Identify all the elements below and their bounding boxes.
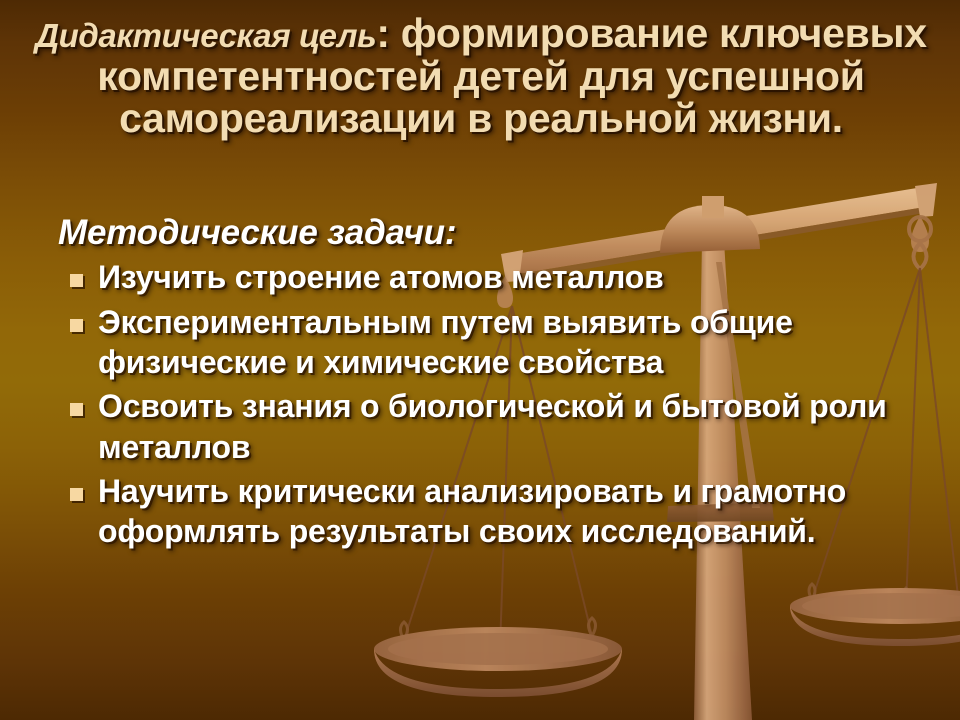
slide-title: Дидактическая цель: формирование ключевы… (28, 12, 934, 140)
bullet-square-icon (70, 488, 83, 501)
title-emphasis: Дидактическая цель (35, 17, 376, 54)
bullet-square-icon (70, 274, 83, 287)
slide-body: Методические задачи: Изучить строение ат… (52, 212, 902, 555)
list-item-text: Освоить знания о биологической и бытовой… (98, 388, 887, 464)
bullet-list: Изучить строение атомов металлов Экспери… (52, 257, 902, 551)
text-layer: Дидактическая цель: формирование ключевы… (0, 0, 960, 720)
list-item-text: Научить критически анализировать и грамо… (98, 473, 846, 549)
subheading: Методические задачи: (58, 212, 902, 253)
list-item-text: Экспериментальным путем выявить общие фи… (98, 304, 793, 380)
list-item: Экспериментальным путем выявить общие фи… (52, 302, 902, 383)
list-item: Изучить строение атомов металлов (52, 257, 902, 297)
bullet-square-icon (70, 319, 83, 332)
slide-canvas: Дидактическая цель: формирование ключевы… (0, 0, 960, 720)
title-separator: : (376, 10, 400, 56)
list-item: Освоить знания о биологической и бытовой… (52, 386, 902, 467)
list-item: Научить критически анализировать и грамо… (52, 471, 902, 552)
list-item-text: Изучить строение атомов металлов (98, 259, 664, 295)
bullet-square-icon (70, 403, 83, 416)
